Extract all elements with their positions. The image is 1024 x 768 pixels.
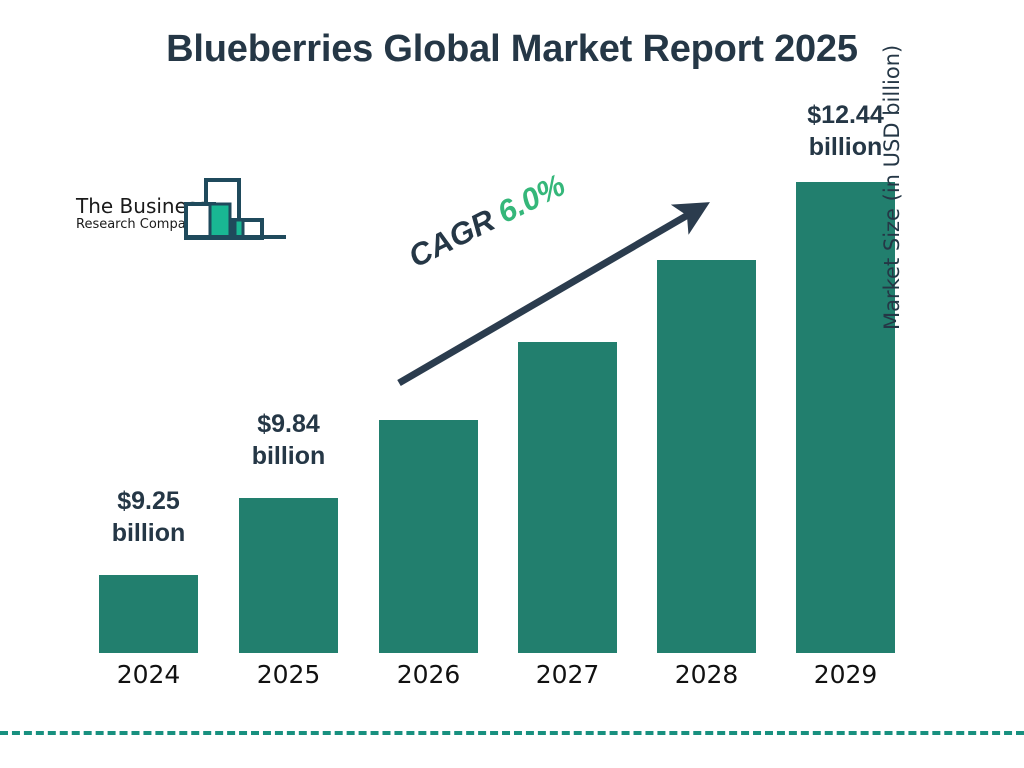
bar-2026 <box>379 420 478 653</box>
bar-2025 <box>239 498 338 653</box>
x-axis-tick-2028: 2028 <box>657 660 756 689</box>
value-label-unit: billion <box>218 441 359 473</box>
value-label-2024: $9.25billion <box>78 486 219 549</box>
bar-2028 <box>657 260 756 653</box>
bar-2027 <box>518 342 617 653</box>
x-axis-tick-2027: 2027 <box>518 660 617 689</box>
x-axis-tick-2025: 2025 <box>239 660 338 689</box>
footer-divider <box>0 731 1024 735</box>
x-axis-tick-2026: 2026 <box>379 660 478 689</box>
chart-page: Blueberries Global Market Report 2025 Th… <box>0 0 1024 768</box>
bar-chart-plot: 2024$9.25billion2025$9.84billion20262027… <box>0 0 1024 768</box>
bar-2024 <box>99 575 198 653</box>
value-label-unit: billion <box>78 518 219 550</box>
value-label-amount: $9.84 <box>218 409 359 441</box>
y-axis-title: Market Size (in USD billion) <box>880 10 904 330</box>
value-label-amount: $9.25 <box>78 486 219 518</box>
value-label-2025: $9.84billion <box>218 409 359 472</box>
x-axis-tick-2029: 2029 <box>796 660 895 689</box>
x-axis-tick-2024: 2024 <box>99 660 198 689</box>
